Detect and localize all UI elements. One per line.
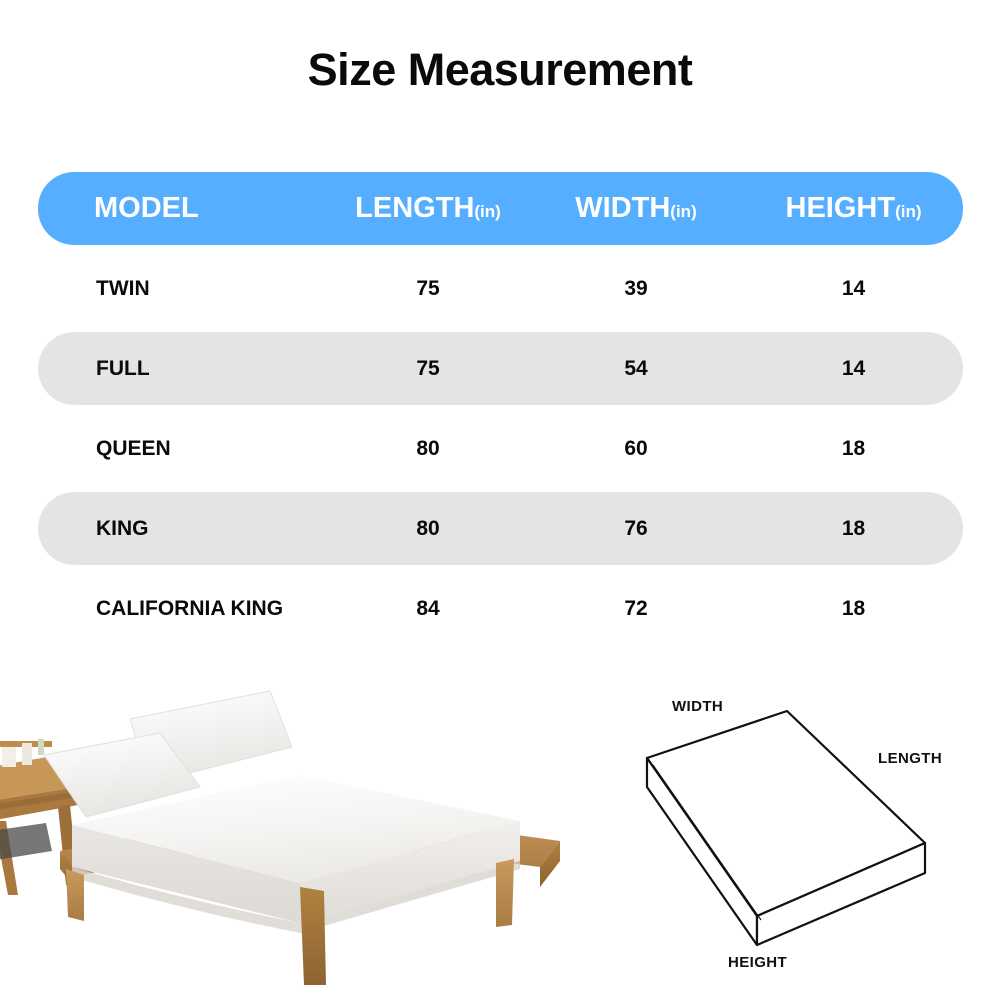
- cell-length: 80: [328, 437, 528, 461]
- table-row: FULL 75 54 14: [38, 332, 963, 405]
- row-spacer: [38, 565, 963, 572]
- cell-length: 84: [328, 597, 528, 621]
- column-header-height: HEIGHT(in): [744, 192, 963, 225]
- dimension-label-width: WIDTH: [672, 698, 723, 715]
- cell-height: 18: [744, 517, 963, 541]
- cell-height: 14: [744, 277, 963, 301]
- page-title: Size Measurement: [0, 44, 1000, 96]
- cell-height: 18: [744, 437, 963, 461]
- cell-width: 76: [528, 517, 744, 541]
- column-header-model: MODEL: [38, 192, 328, 225]
- cell-width: 39: [528, 277, 744, 301]
- cell-model: TWIN: [38, 277, 328, 301]
- table-header-row: MODEL LENGTH(in) WIDTH(in) HEIGHT(in): [38, 172, 963, 245]
- column-header-height-unit: (in): [895, 202, 921, 221]
- cell-model: CALIFORNIA KING: [38, 597, 328, 621]
- column-header-width: WIDTH(in): [528, 192, 744, 225]
- cell-length: 75: [328, 357, 528, 381]
- cell-model: FULL: [38, 357, 328, 381]
- column-header-model-label: MODEL: [94, 192, 199, 224]
- dimension-label-length: LENGTH: [878, 750, 942, 767]
- cell-model: KING: [38, 517, 328, 541]
- column-header-width-unit: (in): [670, 202, 696, 221]
- row-spacer: [38, 325, 963, 332]
- cell-height: 18: [744, 597, 963, 621]
- column-header-length: LENGTH(in): [328, 192, 528, 225]
- dimension-label-height: HEIGHT: [728, 954, 787, 971]
- row-spacer: [38, 245, 963, 252]
- column-header-length-label: LENGTH: [355, 192, 474, 224]
- cell-width: 54: [528, 357, 744, 381]
- box-diagram-svg: [620, 680, 1000, 1000]
- cell-height: 14: [744, 357, 963, 381]
- table-row: TWIN 75 39 14: [38, 252, 963, 325]
- size-measurement-page: Size Measurement MODEL LENGTH(in) WIDTH(…: [0, 0, 1000, 1000]
- table-row: CALIFORNIA KING 84 72 18: [38, 572, 963, 645]
- dimension-box-diagram: WIDTH LENGTH HEIGHT: [620, 680, 1000, 1000]
- row-spacer: [38, 485, 963, 492]
- bed-product-photo: [0, 655, 620, 1000]
- cell-length: 75: [328, 277, 528, 301]
- cell-model: QUEEN: [38, 437, 328, 461]
- column-header-height-label: HEIGHT: [786, 192, 896, 224]
- column-header-width-label: WIDTH: [575, 192, 670, 224]
- table-row: QUEEN 80 60 18: [38, 412, 963, 485]
- size-measurement-table: MODEL LENGTH(in) WIDTH(in) HEIGHT(in) TW…: [38, 172, 963, 645]
- cell-length: 80: [328, 517, 528, 541]
- cell-width: 72: [528, 597, 744, 621]
- bed-illustration: [0, 655, 620, 1000]
- table-row: KING 80 76 18: [38, 492, 963, 565]
- column-header-length-unit: (in): [474, 202, 500, 221]
- cell-width: 60: [528, 437, 744, 461]
- row-spacer: [38, 405, 963, 412]
